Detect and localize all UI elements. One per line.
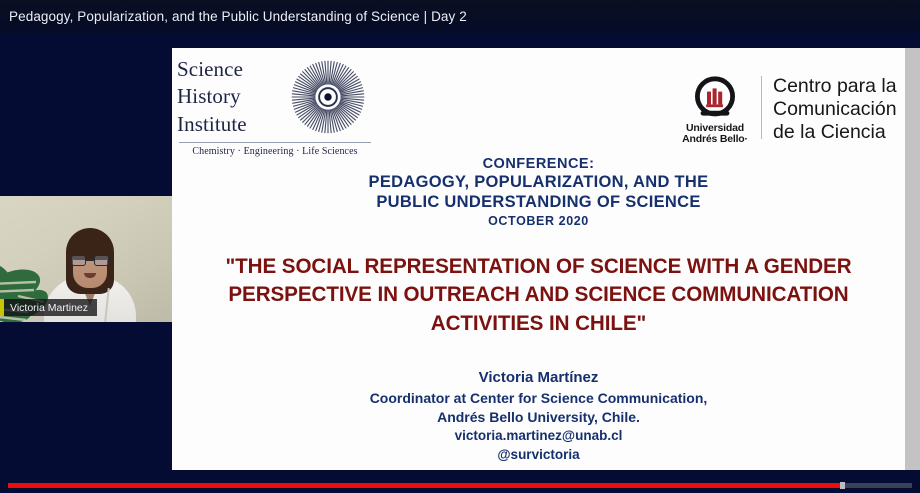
- speaker-email: victoria.martinez@unab.cl: [172, 427, 905, 445]
- shi-wordmark: Science History Institute: [177, 56, 289, 138]
- conference-title-line1: PEDAGOGY, POPULARIZATION, AND THE: [172, 172, 905, 192]
- conference-date: OCTOBER 2020: [172, 214, 905, 228]
- video-progress-scrubber[interactable]: [840, 482, 845, 489]
- logo-divider: [761, 76, 762, 139]
- conference-heading: CONFERENCE: PEDAGOGY, POPULARIZATION, AN…: [172, 156, 905, 228]
- participant-video-tile[interactable]: Victoria Martinez: [0, 196, 172, 322]
- centro-line3: de la Ciencia: [773, 121, 897, 144]
- speaker-info: Victoria Martínez Coordinator at Center …: [172, 368, 905, 464]
- shi-wordmark-line2: History: [177, 83, 289, 110]
- unab-centro-logo: Universidad Andrés Bello· Centro para la…: [678, 74, 897, 145]
- unab-crest-icon: [691, 74, 739, 122]
- presentation-slide: Science History Institute Chemistry · En…: [172, 48, 905, 470]
- slide-logo-row: Science History Institute Chemistry · En…: [172, 48, 905, 170]
- participant-name-label: Victoria Martinez: [4, 302, 97, 314]
- centro-line2: Comunicación: [773, 98, 897, 121]
- speaker-role-line2: Andrés Bello University, Chile.: [172, 408, 905, 427]
- speaker-social-handle: @survictoria: [172, 446, 905, 464]
- video-progress-played: [8, 483, 840, 488]
- shi-wordmark-line1: Science: [177, 56, 289, 83]
- talk-title: "THE SOCIAL REPRESENTATION OF SCIENCE WI…: [210, 252, 868, 337]
- sunburst-icon: [291, 60, 365, 134]
- unab-crest: Universidad Andrés Bello·: [678, 74, 752, 145]
- centro-wordmark: Centro para la Comunicación de la Cienci…: [773, 74, 897, 144]
- video-title: Pedagogy, Popularization, and the Public…: [9, 9, 467, 24]
- unab-name-line2: Andrés Bello·: [678, 134, 752, 145]
- speaker-name: Victoria Martínez: [172, 368, 905, 388]
- video-progress-bar[interactable]: [8, 483, 912, 488]
- video-title-bar: Pedagogy, Popularization, and the Public…: [0, 0, 920, 33]
- unab-name: Universidad Andrés Bello·: [678, 123, 752, 145]
- shi-wordmark-line3: Institute: [177, 111, 289, 138]
- speaker-role-line1: Coordinator at Center for Science Commun…: [172, 389, 905, 408]
- shared-screen-stage[interactable]: Science History Institute Chemistry · En…: [172, 48, 920, 470]
- video-player[interactable]: Pedagogy, Popularization, and the Public…: [0, 0, 920, 493]
- shi-divider-rule: [179, 142, 371, 143]
- participant-name-tag: Victoria Martinez: [0, 299, 97, 316]
- centro-line1: Centro para la: [773, 75, 897, 98]
- conference-kicker: CONFERENCE:: [172, 156, 905, 172]
- conference-title-line2: PUBLIC UNDERSTANDING OF SCIENCE: [172, 192, 905, 212]
- science-history-institute-logo: Science History Institute Chemistry · En…: [177, 56, 373, 157]
- webcam-video-frame: Victoria Martinez: [0, 196, 172, 322]
- eyeglasses-icon: [71, 255, 109, 266]
